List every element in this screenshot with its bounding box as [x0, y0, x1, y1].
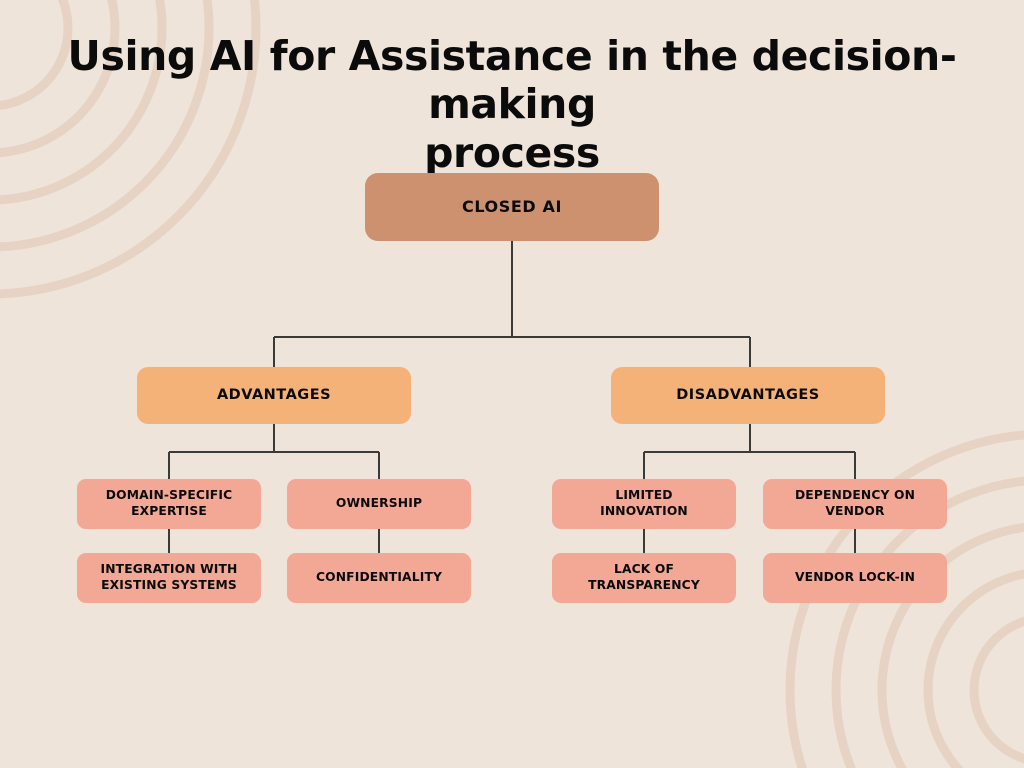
- node-advantages[interactable]: ADVANTAGES: [137, 367, 411, 424]
- node-integration-with-existing-systems[interactable]: INTEGRATION WITH EXISTING SYSTEMS: [77, 553, 261, 603]
- node-ownership[interactable]: OWNERSHIP: [287, 479, 471, 529]
- node-limited-innovation[interactable]: LIMITED INNOVATION: [552, 479, 736, 529]
- slide-canvas: Using AI for Assistance in the decision-…: [0, 0, 1024, 768]
- node-domain-specific-expertise[interactable]: DOMAIN-SPECIFIC EXPERTISE: [77, 479, 261, 529]
- node-confidentiality[interactable]: CONFIDENTIALITY: [287, 553, 471, 603]
- node-disadvantages[interactable]: DISADVANTAGES: [611, 367, 885, 424]
- slide-title: Using AI for Assistance in the decision-…: [42, 32, 982, 177]
- node-vendor-lock-in[interactable]: VENDOR LOCK-IN: [763, 553, 947, 603]
- node-lack-of-transparency[interactable]: LACK OF TRANSPARENCY: [552, 553, 736, 603]
- node-dependency-on-vendor[interactable]: DEPENDENCY ON VENDOR: [763, 479, 947, 529]
- node-closed-ai[interactable]: CLOSED AI: [365, 173, 659, 241]
